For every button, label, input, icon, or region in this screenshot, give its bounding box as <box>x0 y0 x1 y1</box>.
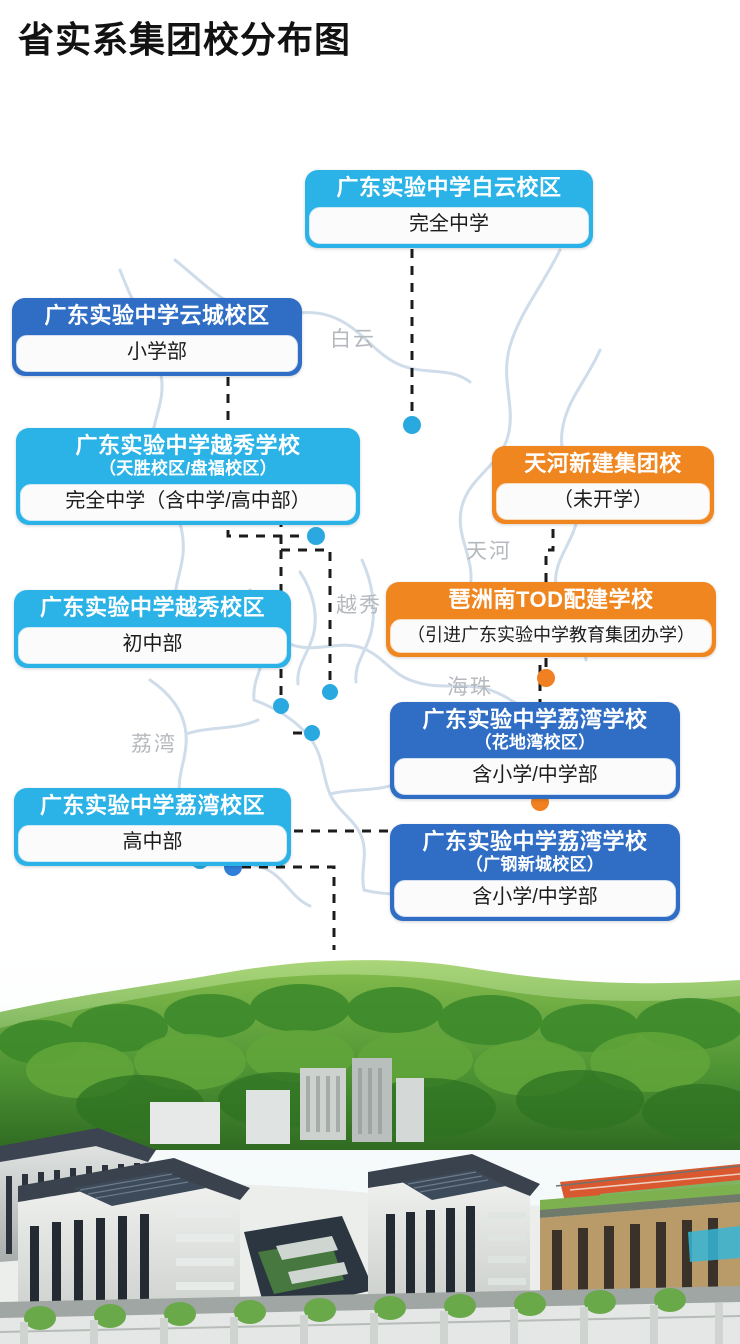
campus-photo-graphic <box>0 950 740 1344</box>
callout-pazhou-tod[interactable]: 琶洲南TOD配建学校 （引进广东实验中学教育集团办学） <box>386 582 716 657</box>
marker-yuexiu-campus[interactable] <box>304 725 320 741</box>
district-label-haizhu: 海珠 <box>447 671 493 701</box>
callout-yuexiu-campus[interactable]: 广东实验中学越秀校区 初中部 <box>14 590 291 668</box>
callout-header: 广东实验中学越秀校区 <box>14 590 291 627</box>
callout-body: 完全中学 <box>309 207 589 244</box>
callout-baiyun-campus[interactable]: 广东实验中学白云校区 完全中学 <box>305 170 593 248</box>
district-label-yuexiu: 越秀 <box>336 589 382 619</box>
callout-header: 广东实验中学荔湾校区 <box>14 788 291 825</box>
callout-header: 广东实验中学白云校区 <box>305 170 593 207</box>
callout-header: 广东实验中学云城校区 <box>12 298 302 335</box>
callout-header: 天河新建集团校 <box>492 446 714 483</box>
callout-body: （未开学） <box>496 483 710 520</box>
callout-body: 含小学/中学部 <box>394 880 676 917</box>
callout-liwan-huadiwan[interactable]: 广东实验中学荔湾学校 （花地湾校区） 含小学/中学部 <box>390 702 680 799</box>
callout-liwan-gangang[interactable]: 广东实验中学荔湾学校 （广钢新城校区） 含小学/中学部 <box>390 824 680 921</box>
callout-header: 琶洲南TOD配建学校 <box>386 582 716 619</box>
connector-gangang <box>242 867 390 950</box>
marker-baiyun-campus[interactable] <box>403 416 421 434</box>
callout-liwan-campus[interactable]: 广东实验中学荔湾校区 高中部 <box>14 788 291 866</box>
page-title: 省实系集团校分布图 <box>18 18 351 61</box>
marker-yuexiu-school[interactable] <box>322 684 338 700</box>
callout-yuexiu-school[interactable]: 广东实验中学越秀学校 （天胜校区/盘福校区） 完全中学（含中学/高中部） <box>16 428 360 525</box>
marker-yuncheng-campus[interactable] <box>307 527 325 545</box>
callout-header: 广东实验中学荔湾学校 （花地湾校区） <box>390 702 680 758</box>
campus-aerial-photo <box>0 950 740 1344</box>
callout-body: 初中部 <box>18 627 287 664</box>
callout-body: （引进广东实验中学教育集团办学） <box>390 619 712 654</box>
callout-header: 广东实验中学荔湾学校 （广钢新城校区） <box>390 824 680 880</box>
callout-header: 广东实验中学越秀学校 （天胜校区/盘福校区） <box>16 428 360 484</box>
callout-yuncheng-campus[interactable]: 广东实验中学云城校区 小学部 <box>12 298 302 376</box>
callout-body: 含小学/中学部 <box>394 758 676 795</box>
marker-tianhe-new-school[interactable] <box>537 669 555 687</box>
callout-body: 高中部 <box>18 825 287 862</box>
callout-body: 完全中学（含中学/高中部） <box>20 484 356 521</box>
district-label-baiyun: 白云 <box>330 323 376 353</box>
district-label-liwan: 荔湾 <box>131 728 177 758</box>
school-distribution-map: 白云 天河 越秀 海珠 荔湾 广东实验中学白云校区 完全中学 广东实验中学云城校… <box>0 120 740 950</box>
marker-yuexiu-school-2[interactable] <box>273 698 289 714</box>
callout-body: 小学部 <box>16 335 298 372</box>
callout-tianhe-new-school[interactable]: 天河新建集团校 （未开学） <box>492 446 714 524</box>
district-label-tianhe: 天河 <box>466 535 512 565</box>
